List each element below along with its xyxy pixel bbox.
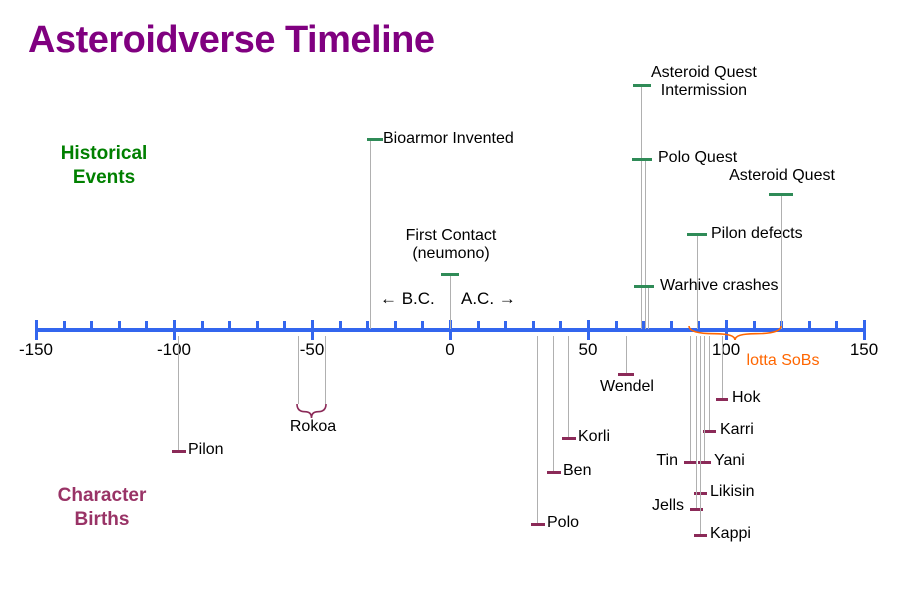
rokoa-brace-label: Rokoa (290, 418, 336, 436)
axis-tick-label: 100 (712, 340, 740, 360)
axis-tick-minor (421, 321, 424, 332)
event-leader-line-asteroid-quest-intermission (641, 86, 642, 329)
birth-tick-hok (716, 398, 728, 401)
axis-tick-label: -100 (157, 340, 191, 360)
birth-tick-jells (690, 508, 703, 511)
axis-tick-major (587, 320, 590, 340)
axis-tick-label: 50 (579, 340, 598, 360)
event-label-bioarmor: Bioarmor Invented (383, 130, 514, 148)
event-tick-polo-quest (632, 158, 652, 161)
event-label-asteroid-quest-intermission: Asteroid QuestIntermission (651, 64, 757, 101)
historical-events-caption: Historical Events (24, 142, 184, 190)
axis-tick-minor (366, 321, 369, 332)
lotta-sobs-brace (689, 326, 781, 340)
birth-leader-line-kappi (700, 336, 701, 534)
axis-tick-major (173, 320, 176, 340)
birth-tick-ben (547, 471, 561, 474)
birth-leader-line-wendel (626, 336, 627, 373)
birth-leader-line-karri (709, 336, 710, 430)
birth-tick-polo (531, 523, 545, 526)
birth-label-karri: Karri (720, 421, 754, 439)
event-label-first-contact-line2: (neumono) (406, 245, 497, 263)
axis-tick-minor (256, 321, 259, 332)
birth-label-likisin: Likisin (710, 483, 754, 501)
birth-leader-line-hok (722, 336, 723, 398)
axis-tick-minor (90, 321, 93, 332)
axis-tick-minor (808, 321, 811, 332)
event-label-warhive-crashes: Warhive crashes (660, 277, 779, 295)
event-label-asteroid-quest-intermission-line1: Asteroid Quest (651, 64, 757, 82)
axis-tick-minor (504, 321, 507, 332)
historical-events-caption-line1: Historical (24, 142, 184, 166)
era-marker-bc: ← B.C. (380, 289, 435, 309)
timeline-canvas: Asteroidverse Timeline Historical Events… (0, 0, 899, 592)
event-tick-asteroid-quest-intermission (633, 84, 651, 87)
event-label-asteroid-quest-intermission-line2: Intermission (651, 82, 757, 100)
page-title: Asteroidverse Timeline (28, 19, 434, 62)
birth-leader-line-korli (568, 336, 569, 437)
event-label-first-contact-line1: First Contact (406, 227, 497, 245)
event-leader-line-warhive-crashes (648, 287, 649, 329)
axis-tick-minor (63, 321, 66, 332)
event-leader-line-first-contact (450, 275, 451, 329)
axis-tick-minor (145, 321, 148, 332)
rokoa-leader-line-right (325, 336, 326, 404)
birth-leader-line-ben (553, 336, 554, 471)
birth-label-korli: Korli (578, 428, 610, 446)
event-tick-warhive-crashes (634, 285, 654, 288)
axis-tick-label: 150 (850, 340, 878, 360)
rokoa-leader-line-left (298, 336, 299, 404)
axis-tick-minor (283, 321, 286, 332)
axis-tick-major (311, 320, 314, 340)
birth-label-tin: Tin (558, 452, 678, 470)
era-marker-ac: A.C. → (461, 289, 516, 309)
axis-tick-minor (835, 321, 838, 332)
rokoa-brace (297, 404, 326, 418)
birth-label-kappi: Kappi (710, 525, 751, 543)
event-leader-line-asteroid-quest (781, 195, 782, 329)
axis-tick-minor (615, 321, 618, 332)
character-births-caption-line2: Births (22, 508, 182, 532)
event-leader-line-polo-quest (645, 160, 646, 329)
axis-tick-label: -50 (300, 340, 325, 360)
event-tick-pilon-defects (687, 233, 707, 236)
event-tick-first-contact (441, 273, 459, 276)
axis-tick-minor (559, 321, 562, 332)
axis-tick-major (863, 320, 866, 340)
axis-tick-label: -150 (19, 340, 53, 360)
character-births-caption-line1: Character (22, 484, 182, 508)
birth-leader-line-tin (690, 336, 691, 461)
axis-tick-minor (118, 321, 121, 332)
event-tick-bioarmor (367, 138, 383, 141)
axis-tick-minor (339, 321, 342, 332)
birth-leader-line-yani (704, 336, 705, 461)
birth-label-pilon: Pilon (188, 441, 224, 459)
event-label-asteroid-quest: Asteroid Quest (729, 167, 835, 185)
birth-tick-kappi (694, 534, 707, 537)
axis-tick-minor (532, 321, 535, 332)
event-label-first-contact: First Contact(neumono) (406, 227, 497, 264)
axis-tick-minor (670, 321, 673, 332)
birth-leader-line-polo (537, 336, 538, 523)
axis-tick-minor (477, 321, 480, 332)
event-leader-line-bioarmor (370, 140, 371, 329)
birth-label-wendel: Wendel (600, 378, 654, 396)
event-label-pilon-defects: Pilon defects (711, 225, 803, 243)
birth-tick-pilon (172, 450, 186, 453)
character-births-caption: Character Births (22, 484, 182, 532)
axis-tick-major (35, 320, 38, 340)
birth-tick-wendel (618, 373, 634, 376)
birth-leader-line-pilon (178, 336, 179, 450)
historical-events-caption-line2: Events (24, 166, 184, 190)
birth-label-hok: Hok (732, 389, 760, 407)
birth-label-jells: Jells (564, 497, 684, 515)
axis-tick-minor (394, 321, 397, 332)
axis-tick-label: 0 (445, 340, 454, 360)
event-tick-asteroid-quest (769, 193, 793, 196)
axis-tick-minor (228, 321, 231, 332)
birth-label-polo: Polo (547, 514, 579, 532)
event-label-polo-quest: Polo Quest (658, 149, 737, 167)
lotta-sobs-brace-label: lotta SoBs (747, 352, 820, 370)
birth-label-yani: Yani (714, 452, 745, 470)
birth-tick-korli (562, 437, 576, 440)
axis-tick-minor (201, 321, 204, 332)
birth-leader-line-jells (696, 336, 697, 508)
